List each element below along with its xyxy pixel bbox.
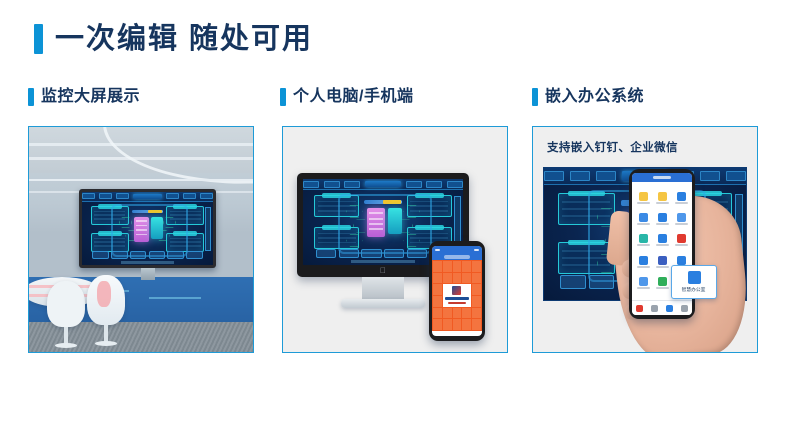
equipment-row <box>92 251 202 259</box>
apple-logo-icon:  <box>379 267 387 275</box>
smartphone-in-hand[interactable]: 智慧办公室 <box>629 169 695 319</box>
title-accent-bar <box>34 24 43 54</box>
page-title-text: 一次编辑 随处可用 <box>55 24 313 54</box>
display-mount <box>141 268 155 280</box>
page-title: 一次编辑 随处可用 <box>34 24 313 54</box>
vessel-primary <box>134 217 148 242</box>
monitor-base <box>341 299 425 308</box>
app-icon-item[interactable] <box>634 234 652 254</box>
control-room-photo <box>29 127 253 352</box>
phone-bottom-tabbar[interactable] <box>632 300 692 315</box>
app-icon-item[interactable] <box>634 192 652 212</box>
app-icon-item[interactable] <box>672 192 690 212</box>
tooltip-label: 智慧办公室 <box>682 286 706 293</box>
app-icon-item[interactable] <box>653 256 671 276</box>
dashboard-title-plate <box>365 181 401 187</box>
app-icon-item[interactable] <box>634 213 652 233</box>
pipeline-alarm-tag <box>383 200 401 204</box>
dashboard-topbar <box>303 179 463 190</box>
column-subtitle-pc-mobile: 个人电脑/手机端 <box>280 88 413 106</box>
subtitle-text: 嵌入办公系统 <box>545 88 644 106</box>
dashboard-footer-bar <box>121 261 173 264</box>
app-icon-item[interactable] <box>634 256 652 276</box>
panel-embedded-office[interactable]: 支持嵌入钉钉、企业微信 <box>532 126 758 353</box>
subtitle-accent-bar <box>28 88 34 106</box>
subtitle-text: 个人电脑/手机端 <box>293 88 413 106</box>
panel-big-screen[interactable] <box>28 126 254 353</box>
app-icon-item[interactable] <box>653 234 671 254</box>
dashboard-screen <box>82 192 213 265</box>
workbench-header <box>632 173 692 182</box>
ceiling <box>29 127 253 173</box>
pipeline-alarm-tag <box>148 210 162 214</box>
side-rail <box>205 207 211 251</box>
column-subtitle-big-screen: 监控大屏展示 <box>28 88 140 106</box>
app-icon-item[interactable] <box>653 213 671 233</box>
chair-left <box>47 281 85 327</box>
app-icon-item[interactable] <box>672 234 690 254</box>
monitor-neck <box>362 277 404 299</box>
dashboard-footer-bar <box>351 260 415 263</box>
smartphone[interactable] <box>429 241 485 341</box>
app-icon-item[interactable] <box>653 277 671 297</box>
panel-caption: 支持嵌入钉钉、企业微信 <box>547 139 678 155</box>
panel-pc-mobile[interactable]:  <box>282 126 508 353</box>
app-icon-item[interactable] <box>634 277 652 297</box>
subtitle-accent-bar <box>280 88 286 106</box>
app-tooltip-card[interactable]: 智慧办公室 <box>671 265 717 299</box>
dashboard-title-plate <box>133 194 162 199</box>
orange-tile-layout <box>432 260 482 331</box>
wall-display[interactable] <box>79 189 216 268</box>
app-icon-item[interactable] <box>672 213 690 233</box>
smart-office-icon <box>688 271 701 284</box>
vessel-secondary <box>151 217 163 239</box>
vessel-secondary <box>388 208 402 234</box>
subtitle-accent-bar <box>532 88 538 106</box>
phone-status-bar <box>432 246 482 253</box>
logo-mark-icon <box>452 286 461 295</box>
dashboard-topbar <box>82 192 213 202</box>
company-logo-card <box>443 284 471 306</box>
phone-app-titlebar <box>432 253 482 260</box>
phone-screen <box>432 246 482 336</box>
subtitle-text: 监控大屏展示 <box>41 88 140 106</box>
app-icon-item[interactable] <box>653 192 671 212</box>
slide-root: 一次编辑 随处可用 监控大屏展示 个人电脑/手机端 嵌入办公系统 <box>0 0 790 428</box>
chair-right <box>87 275 125 325</box>
column-subtitle-embedded-office: 嵌入办公系统 <box>532 88 644 106</box>
vessel-primary <box>367 208 385 237</box>
